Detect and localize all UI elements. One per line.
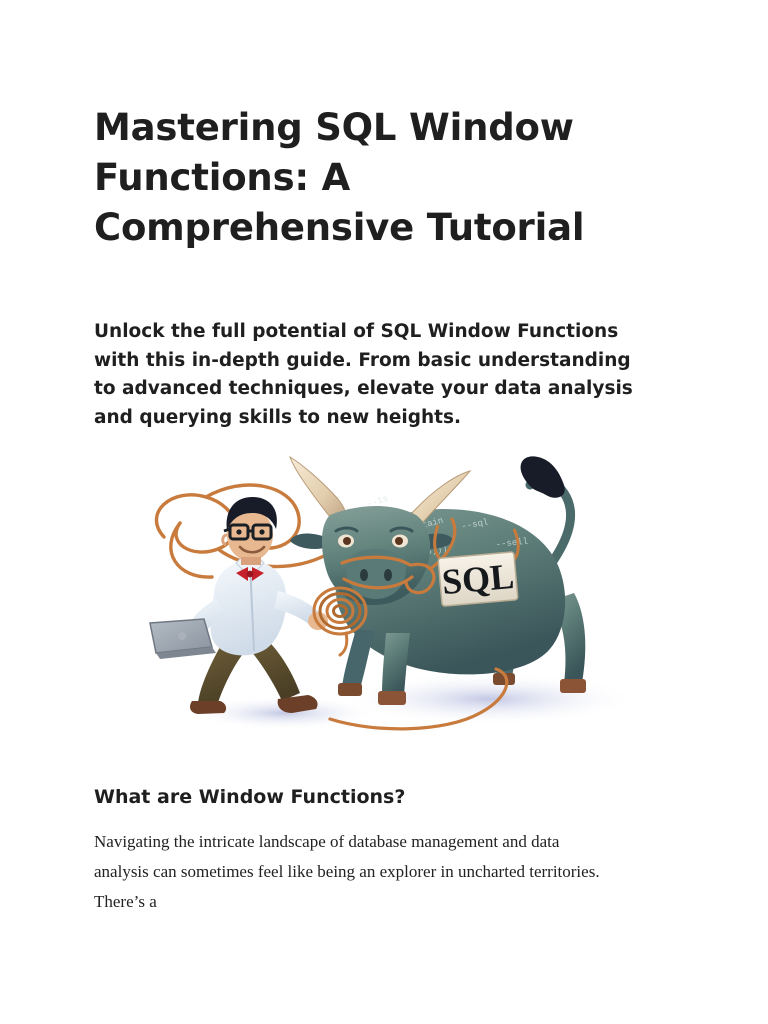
bull-front-hoof-far — [338, 683, 362, 696]
bull-front-hoof-near — [378, 691, 406, 705]
document-page: Mastering SQL Window Functions: A Compre… — [0, 0, 768, 1024]
bull-pupil-left — [343, 537, 351, 545]
document-subtitle: Unlock the full potential of SQL Window … — [94, 253, 654, 432]
bull-nostril-left — [360, 569, 368, 581]
bull-pupil-right — [395, 537, 403, 545]
page-title: Mastering SQL Window Functions: A Compre… — [94, 0, 634, 253]
man-eye-left — [236, 529, 241, 534]
laptop — [150, 619, 216, 659]
sign-label: SQL — [440, 556, 515, 602]
man-eye-right — [259, 529, 264, 534]
man-back-shoe — [190, 701, 226, 714]
section-heading-what-are-window-functions: What are Window Functions? — [94, 757, 674, 810]
bull-hoof-near — [560, 679, 586, 693]
man-taming-sql-bull-illustration: hl1suebtain --sql --sell Sa ) S))) ((12:… — [94, 451, 674, 757]
man-neck — [241, 557, 261, 565]
body-paragraph: Navigating the intricate landscape of da… — [94, 810, 614, 917]
illustration-figure: hl1suebtain --sql --sell Sa ) S))) ((12:… — [94, 451, 674, 757]
bull-nostril-right — [384, 569, 392, 581]
